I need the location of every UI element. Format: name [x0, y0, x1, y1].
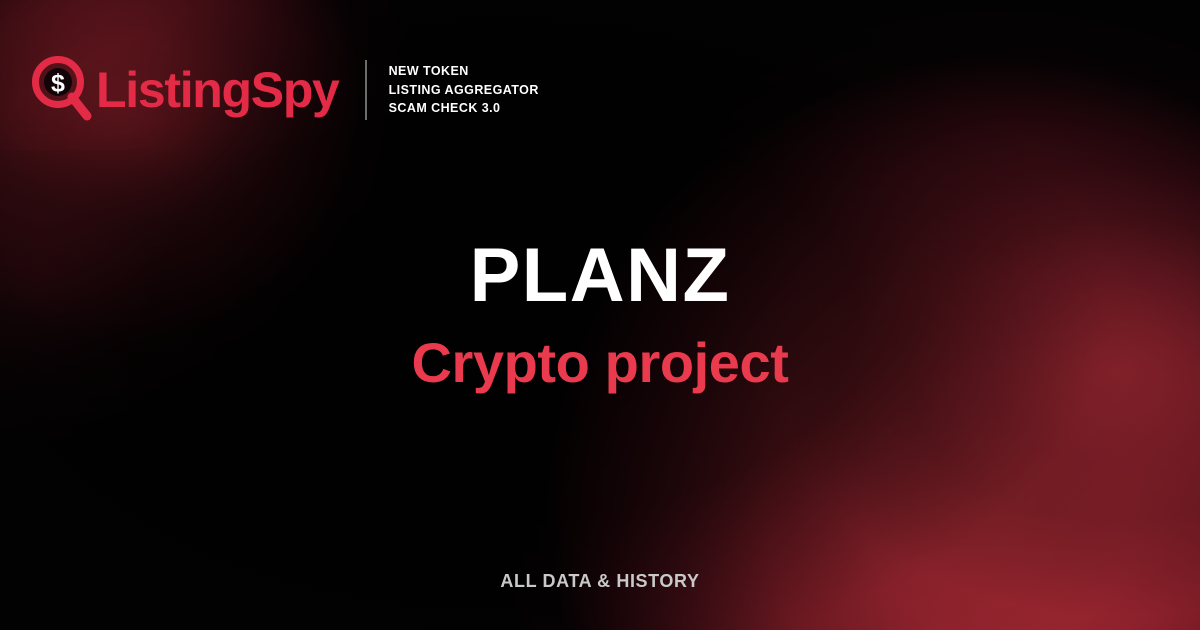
page-title: PLANZ: [0, 236, 1200, 316]
page-subtitle: Crypto project: [0, 332, 1200, 394]
brand-tagline-line-3: SCAM CHECK 3.0: [389, 99, 539, 118]
brand-tagline: NEW TOKEN LISTING AGGREGATOR SCAM CHECK …: [389, 62, 539, 118]
brand-tagline-line-2: LISTING AGGREGATOR: [389, 81, 539, 100]
svg-text:$: $: [51, 70, 65, 98]
brand-wordmark: ListingSpy: [96, 65, 339, 115]
brand-lockup[interactable]: $ ListingSpy NEW TOKEN LISTING AGGREGATO…: [32, 52, 539, 128]
background-glow-logo-wash: [0, 0, 400, 260]
brand-divider: [365, 60, 367, 120]
brand-tagline-line-1: NEW TOKEN: [389, 62, 539, 81]
footer-note: ALL DATA & HISTORY: [0, 571, 1200, 592]
magnifier-dollar-icon: $: [32, 56, 92, 124]
listing-spy-share-card: $ ListingSpy NEW TOKEN LISTING AGGREGATO…: [0, 0, 1200, 630]
hero-block: PLANZ Crypto project: [0, 236, 1200, 393]
